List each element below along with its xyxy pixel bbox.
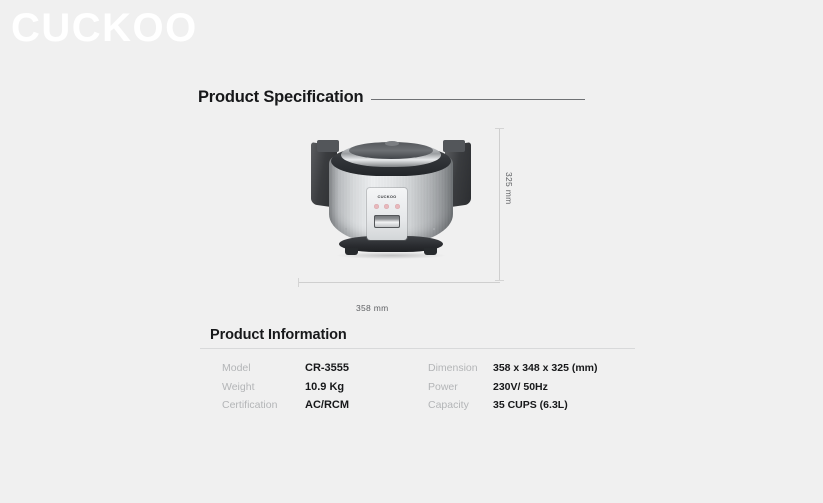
rice-cooker-product-image: CUCKOO — [311, 136, 471, 262]
indicator-lamp-icon — [395, 204, 400, 209]
product-specification-heading: Product Specification — [198, 88, 363, 107]
spec-value-certification: AC/RCM — [305, 396, 349, 415]
product-information-table: Model Weight Certification CR-3555 10.9 … — [222, 359, 622, 415]
spec-value-power: 230V/ 50Hz — [493, 378, 598, 397]
cooker-handle-top-left — [317, 140, 339, 152]
control-panel-indicator-lamps — [371, 204, 403, 209]
spec-value-capacity: 35 CUPS (6.3L) — [493, 396, 598, 415]
height-dimension-cap-top — [495, 128, 504, 129]
heading-divider-line — [371, 99, 585, 100]
cooker-control-panel: CUCKOO — [367, 188, 407, 240]
height-dimension-line — [499, 128, 500, 280]
cooker-lid-knob — [385, 141, 399, 146]
spec-labels-right: Dimension Power Capacity — [428, 359, 493, 415]
spec-label-dimension: Dimension — [428, 359, 493, 378]
cooker-handle-top-right — [443, 140, 465, 152]
indicator-lamp-icon — [384, 204, 389, 209]
spec-label-weight: Weight — [222, 378, 305, 397]
spec-value-weight: 10.9 Kg — [305, 378, 349, 397]
cooker-rivet-left — [345, 228, 347, 230]
height-dimension-cap-bottom — [495, 280, 504, 281]
indicator-lamp-icon — [374, 204, 379, 209]
product-spec-page: CUCKOO Product Specification 325 mm 358 … — [0, 0, 823, 503]
spec-label-model: Model — [222, 359, 305, 378]
height-dimension-label: 325 mm — [504, 172, 514, 205]
spec-label-certification: Certification — [222, 396, 305, 415]
spec-column-left: Model Weight Certification CR-3555 10.9 … — [222, 359, 428, 415]
cooker-rivet-right — [433, 228, 435, 230]
spec-values-left: CR-3555 10.9 Kg AC/RCM — [305, 359, 349, 415]
control-panel-brand-text: CUCKOO — [367, 194, 407, 199]
product-information-divider — [200, 348, 635, 349]
width-dimension-line — [298, 282, 500, 283]
width-dimension-cap-left — [298, 278, 299, 287]
spec-value-model: CR-3555 — [305, 359, 349, 378]
spec-column-right: Dimension Power Capacity 358 x 348 x 325… — [428, 359, 622, 415]
spec-values-right: 358 x 348 x 325 (mm) 230V/ 50Hz 35 CUPS … — [493, 359, 598, 415]
spec-label-capacity: Capacity — [428, 396, 493, 415]
spec-value-dimension: 358 x 348 x 325 (mm) — [493, 359, 598, 378]
product-information-heading: Product Information — [210, 327, 347, 343]
cuckoo-brand-logo: CUCKOO — [11, 6, 198, 50]
control-panel-display — [374, 215, 400, 228]
width-dimension-label: 358 mm — [356, 303, 389, 313]
spec-labels-left: Model Weight Certification — [222, 359, 305, 415]
spec-label-power: Power — [428, 378, 493, 397]
product-ground-shadow — [337, 252, 445, 259]
